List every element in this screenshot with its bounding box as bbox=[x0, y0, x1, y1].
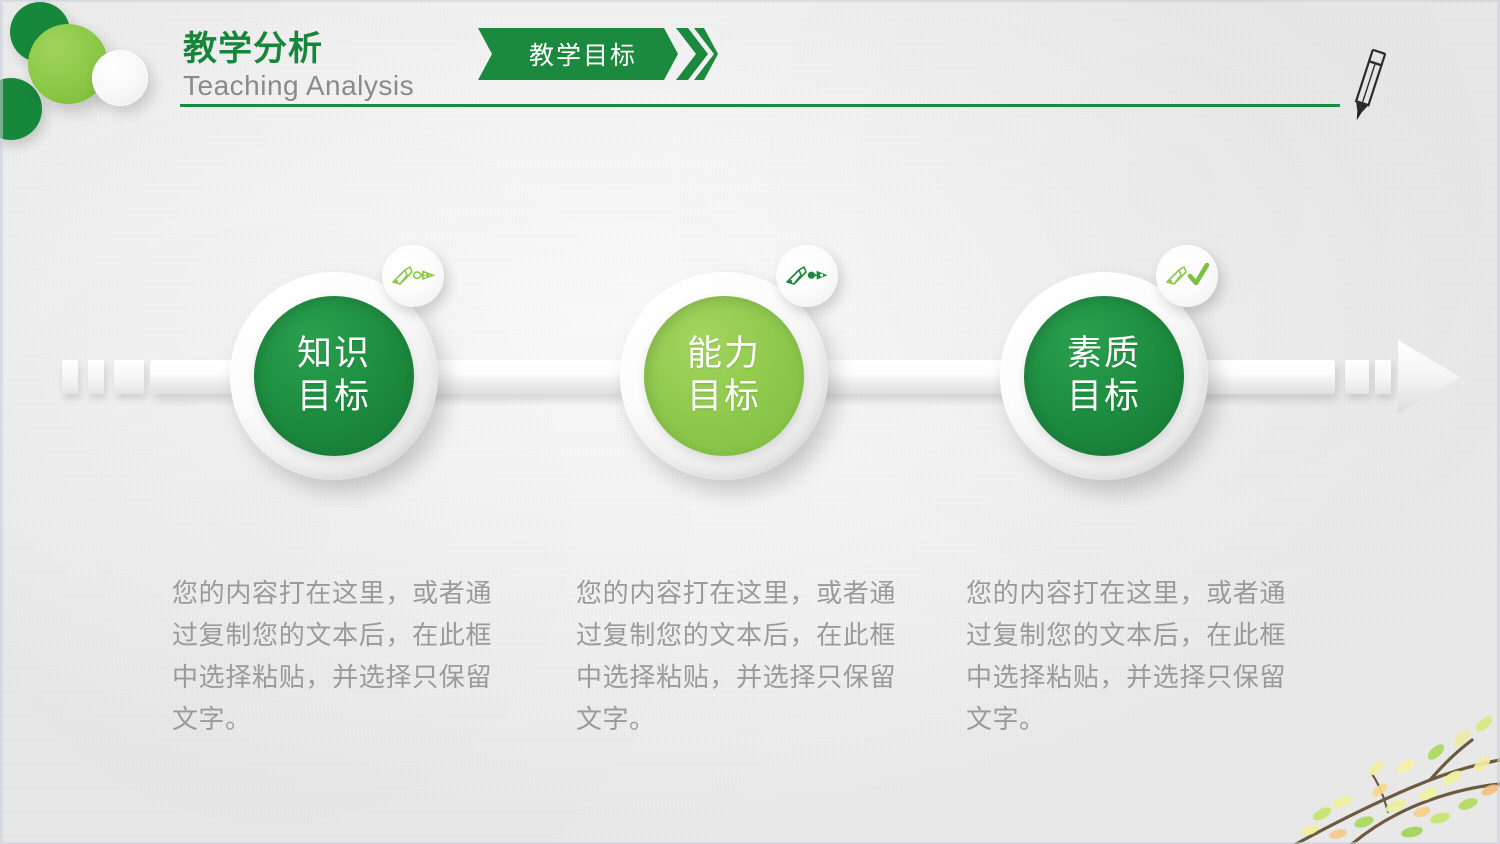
tree-branch-with-leaves-icon bbox=[1280, 694, 1500, 844]
slide-canvas: 教学分析 Teaching Analysis 教学目标 bbox=[0, 0, 1500, 844]
section-tag-label: 教学目标 bbox=[519, 36, 637, 72]
goal-inner-3: 素质 目标 bbox=[1024, 296, 1184, 456]
rail-dash-5 bbox=[1375, 360, 1391, 394]
rail-dash-1 bbox=[62, 360, 78, 394]
goal-badge-3[interactable] bbox=[1156, 245, 1218, 307]
goal-label-1-line1: 知识 bbox=[297, 333, 371, 376]
section-tag[interactable]: 教学目标 bbox=[478, 28, 678, 80]
pencil-and-checkmark-icon bbox=[1165, 261, 1209, 291]
decor-circle-white bbox=[92, 50, 148, 106]
page-title-en: Teaching Analysis bbox=[183, 70, 414, 102]
section-tag-body: 教学目标 bbox=[478, 28, 678, 80]
header-divider bbox=[180, 104, 1340, 107]
goal-description-1: 您的内容打在这里，或者通过复制您的文本后，在此框中选择粘贴，并选择只保留文字。 bbox=[172, 572, 492, 740]
double-chevron-right-icon bbox=[674, 28, 720, 80]
page-title-zh: 教学分析 bbox=[183, 21, 323, 70]
goal-inner-1: 知识 目标 bbox=[254, 296, 414, 456]
goal-label-2-line2: 目标 bbox=[687, 376, 761, 419]
goal-badge-2[interactable] bbox=[776, 245, 838, 307]
pencil-and-pen-nib-icon bbox=[391, 262, 435, 290]
pencil-and-pen-nib-icon bbox=[785, 262, 829, 290]
goal-description-2: 您的内容打在这里，或者通过复制您的文本后，在此框中选择粘贴，并选择只保留文字。 bbox=[576, 572, 896, 740]
goal-badge-1[interactable] bbox=[382, 245, 444, 307]
pencil-icon bbox=[1338, 44, 1398, 124]
goal-inner-2: 能力 目标 bbox=[644, 296, 804, 456]
rail-dash-4 bbox=[1345, 360, 1369, 394]
goal-description-3: 您的内容打在这里，或者通过复制您的文本后，在此框中选择粘贴，并选择只保留文字。 bbox=[966, 572, 1286, 740]
goal-label-2-line1: 能力 bbox=[687, 333, 761, 376]
goal-label-3-line2: 目标 bbox=[1067, 376, 1141, 419]
goal-label-3-line1: 素质 bbox=[1067, 333, 1141, 376]
goal-label-1-line2: 目标 bbox=[297, 376, 371, 419]
arrow-head-right-icon bbox=[1398, 340, 1460, 414]
rail-dash-3 bbox=[114, 360, 144, 394]
rail-dash-2 bbox=[88, 360, 104, 394]
